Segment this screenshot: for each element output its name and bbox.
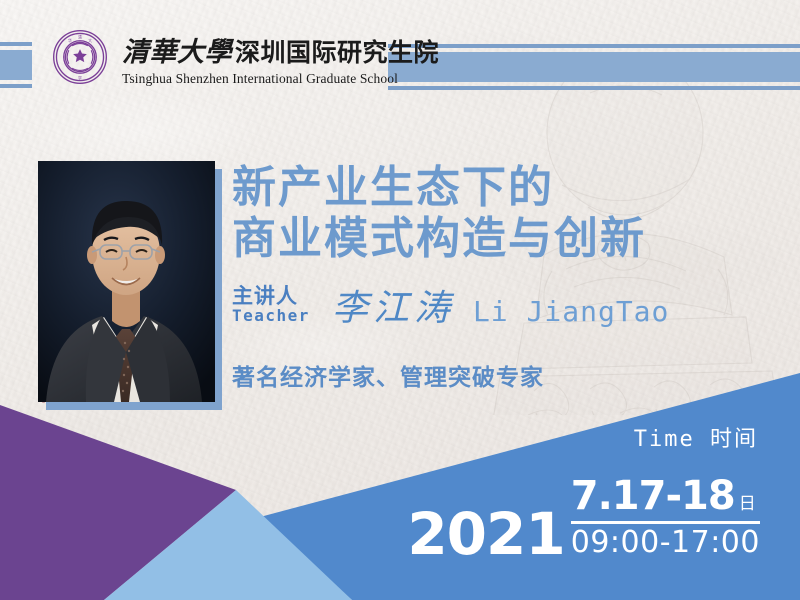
title-line-1: 新产业生态下的 [232,162,646,213]
speaker-name-cn: 李江涛 [332,291,455,327]
title-line-2: 商业模式构造与创新 [232,213,646,264]
speaker-label-en: Teacher [232,308,310,325]
speaker-row: 主讲人 Teacher 李江涛 Li JiangTao [232,286,669,325]
stripe-band [388,52,800,82]
event-hours: 09:00-17:00 [571,527,760,559]
event-poster: 清 华 大 学 清華大學 深圳国际研究生院 Tsinghua Shenzhen … [0,0,800,600]
speaker-name-en: Li JiangTao [473,298,669,326]
tsinghua-logo: 清 华 大 学 清華大學 深圳国际研究生院 Tsinghua Shenzhen … [52,29,439,87]
event-date: 7.17-18 日 [571,475,760,519]
stripe-band [0,50,32,80]
logo-english-name: Tsinghua Shenzhen International Graduate… [122,71,439,87]
event-date-suffix: 日 [739,496,756,514]
logo-university-name: 清華大學 [122,30,232,69]
logo-school-name: 深圳国际研究生院 [235,33,439,69]
speaker-description: 著名经济学家、管理突破专家 [232,358,544,392]
svg-text:学: 学 [78,75,82,80]
left-stripe-decoration [0,42,32,88]
tsinghua-seal-icon: 清 华 大 学 [52,29,108,85]
stripe-line-bottom [0,84,32,88]
page-title: 新产业生态下的 商业模式构造与创新 [232,162,646,265]
event-date-value: 7.17-18 [571,475,735,517]
speaker-label: 主讲人 Teacher [232,286,310,325]
time-detail-column: 7.17-18 日 09:00-17:00 [571,475,760,559]
svg-text:华: 华 [68,38,72,43]
svg-text:大: 大 [88,38,92,43]
stripe-line-bottom [388,86,800,90]
time-block: 2021 7.17-18 日 09:00-17:00 [407,475,760,561]
logo-chinese-name: 清華大學 深圳国际研究生院 [122,30,439,69]
time-section-label: Time 时间 [634,421,758,453]
svg-text:清: 清 [78,35,82,40]
time-divider-rule [571,521,760,524]
event-year: 2021 [407,509,564,560]
top-stripe-decoration [388,44,800,90]
speaker-portrait [38,161,215,402]
speaker-label-cn: 主讲人 [232,286,310,308]
